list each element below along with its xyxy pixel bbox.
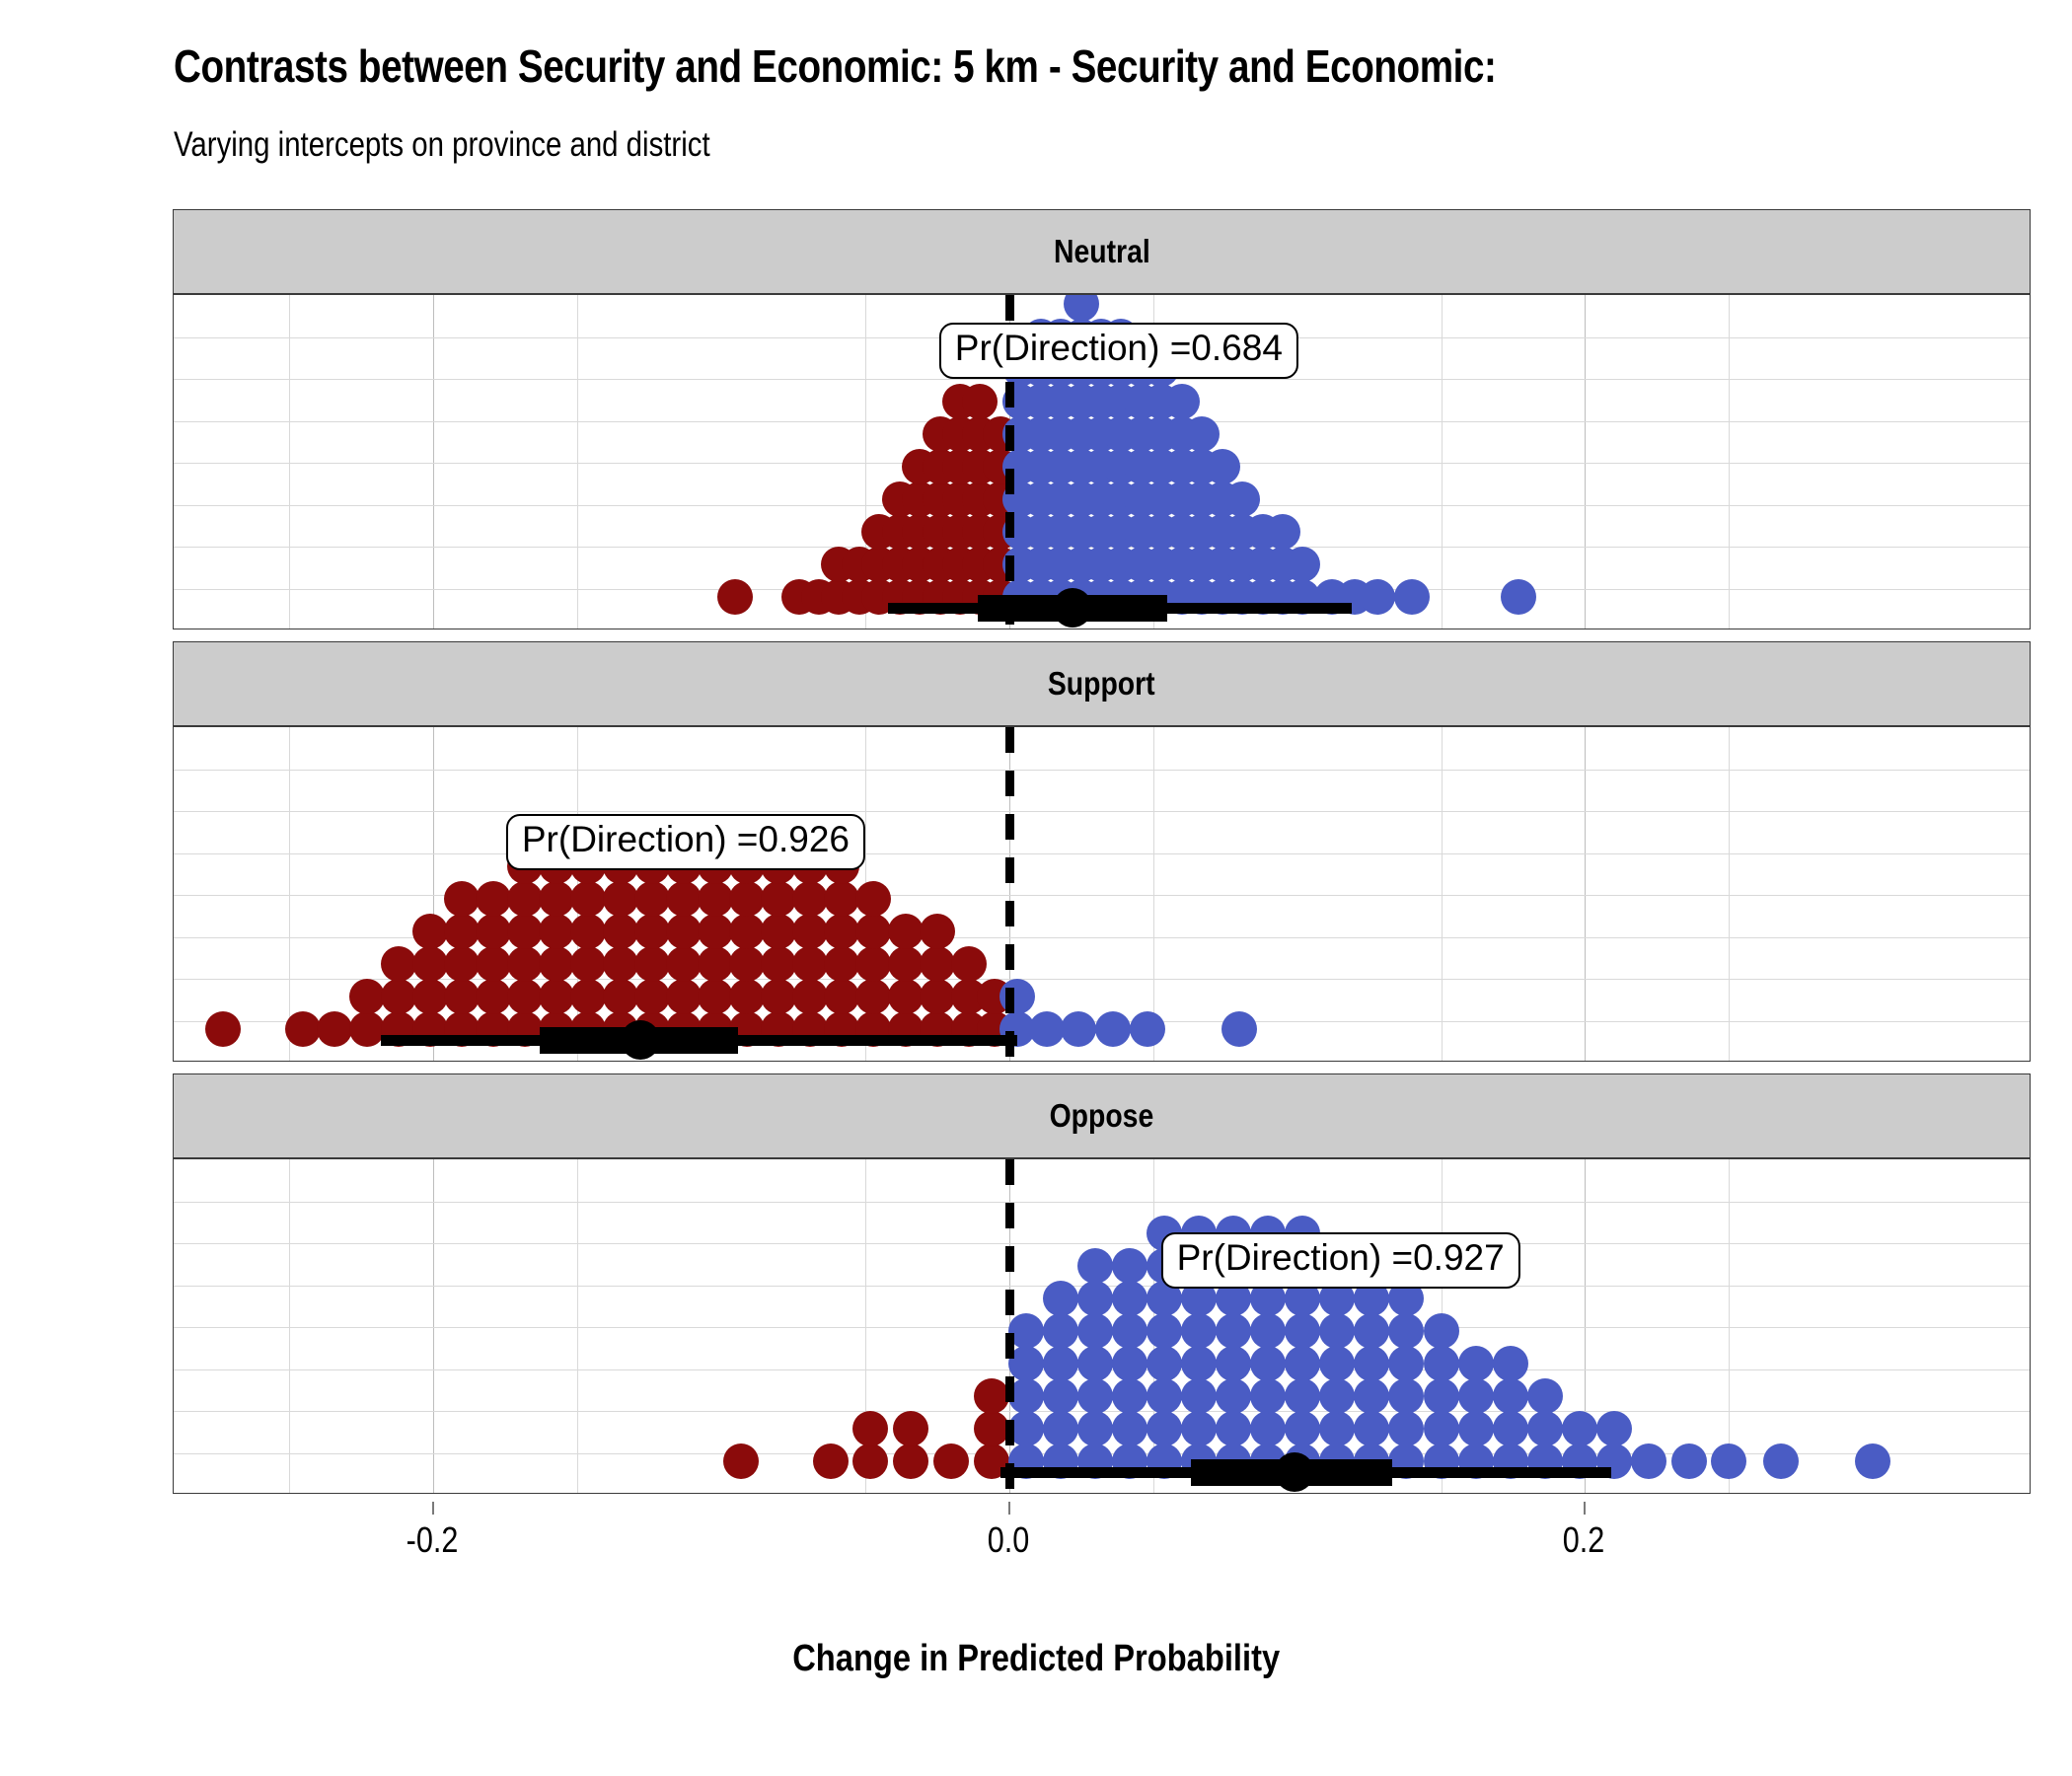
dot bbox=[1354, 1378, 1389, 1414]
dot bbox=[666, 881, 702, 917]
x-axis-tick bbox=[1584, 1502, 1586, 1515]
facet-strip-oppose: Oppose bbox=[173, 1073, 2031, 1158]
dot bbox=[666, 946, 702, 982]
dot bbox=[1181, 1313, 1217, 1349]
dot bbox=[1527, 1378, 1563, 1414]
panel-oppose: Pr(Direction) =0.927 bbox=[173, 1158, 2031, 1494]
dot bbox=[729, 881, 765, 917]
dot bbox=[666, 979, 702, 1014]
dot bbox=[1493, 1378, 1528, 1414]
dot bbox=[1458, 1411, 1494, 1446]
dot bbox=[824, 946, 859, 982]
dot bbox=[1095, 1011, 1131, 1047]
facet-strip-label: Neutral bbox=[1054, 233, 1150, 270]
dot bbox=[1596, 1411, 1632, 1446]
dot bbox=[761, 979, 796, 1014]
gridline-vertical-minor bbox=[1442, 295, 1443, 629]
dot bbox=[1501, 579, 1536, 615]
dot bbox=[476, 914, 511, 949]
gridline-vertical-minor bbox=[289, 1159, 290, 1493]
dot bbox=[570, 979, 606, 1014]
dot bbox=[1112, 1313, 1147, 1349]
dot bbox=[1112, 1281, 1147, 1316]
dot bbox=[824, 881, 859, 917]
dot bbox=[855, 946, 891, 982]
dot bbox=[381, 946, 416, 982]
dot bbox=[476, 946, 511, 982]
facet-neutral: NeutralPr(Direction) =0.684 bbox=[173, 209, 2033, 629]
dot bbox=[962, 384, 998, 419]
dot bbox=[1671, 1443, 1707, 1479]
panel-neutral: Pr(Direction) =0.684 bbox=[173, 294, 2031, 629]
dot bbox=[813, 1443, 849, 1479]
panel-support: Pr(Direction) =0.926 bbox=[173, 726, 2031, 1062]
dot bbox=[1319, 1411, 1355, 1446]
dot bbox=[951, 946, 987, 982]
chart-subtitle: Varying intercepts on province and distr… bbox=[174, 125, 710, 165]
dot bbox=[1855, 1443, 1890, 1479]
dot bbox=[1043, 1313, 1078, 1349]
point-estimate-marker bbox=[1275, 1452, 1314, 1492]
dot bbox=[855, 881, 891, 917]
dot bbox=[1250, 1411, 1286, 1446]
dot bbox=[476, 979, 511, 1014]
facet-strip-label: Support bbox=[1048, 665, 1155, 703]
dot bbox=[1112, 1346, 1147, 1381]
dot bbox=[824, 914, 859, 949]
dot bbox=[1184, 416, 1220, 452]
facet-oppose: OpposePr(Direction) =0.927 bbox=[173, 1073, 2033, 1494]
dot bbox=[570, 914, 606, 949]
gridline-vertical-minor bbox=[577, 295, 578, 629]
dot bbox=[1285, 1378, 1320, 1414]
dot bbox=[1216, 1346, 1251, 1381]
dot bbox=[1285, 1346, 1320, 1381]
dot bbox=[1493, 1411, 1528, 1446]
gridline-horizontal bbox=[174, 1202, 2030, 1203]
dot bbox=[1424, 1411, 1459, 1446]
dot bbox=[1354, 1346, 1389, 1381]
dot bbox=[507, 881, 543, 917]
dot bbox=[717, 579, 753, 615]
dot bbox=[634, 979, 670, 1014]
dot bbox=[317, 1011, 352, 1047]
dot bbox=[729, 979, 765, 1014]
dot bbox=[444, 979, 480, 1014]
gridline-vertical-major bbox=[433, 1159, 434, 1493]
dot bbox=[1205, 449, 1240, 484]
pr-direction-label: Pr(Direction) =0.927 bbox=[1161, 1232, 1520, 1289]
dot bbox=[1077, 1378, 1113, 1414]
gridline-vertical-minor bbox=[289, 295, 290, 629]
dot bbox=[729, 946, 765, 982]
dot bbox=[1077, 1281, 1113, 1316]
dot bbox=[920, 946, 955, 982]
dot bbox=[412, 979, 448, 1014]
dot bbox=[1216, 1313, 1251, 1349]
pr-direction-label: Pr(Direction) =0.926 bbox=[506, 814, 865, 870]
dot bbox=[1130, 1011, 1165, 1047]
gridline-vertical-minor bbox=[289, 727, 290, 1061]
dot bbox=[1388, 1346, 1424, 1381]
dot bbox=[1043, 1378, 1078, 1414]
dot bbox=[1147, 1411, 1182, 1446]
dot bbox=[1077, 1248, 1113, 1284]
dot bbox=[723, 1443, 759, 1479]
facet-strip-neutral: Neutral bbox=[173, 209, 2031, 294]
dot bbox=[893, 1443, 928, 1479]
dot bbox=[539, 946, 574, 982]
dot bbox=[1424, 1378, 1459, 1414]
gridline-horizontal bbox=[174, 853, 2030, 854]
x-axis-tick bbox=[432, 1502, 434, 1515]
dot bbox=[933, 1443, 969, 1479]
dot bbox=[603, 881, 638, 917]
point-estimate-marker bbox=[621, 1020, 660, 1060]
dot bbox=[539, 979, 574, 1014]
chart-title: Contrasts between Security and Economic:… bbox=[174, 39, 1798, 93]
dot bbox=[1458, 1378, 1494, 1414]
dot bbox=[1360, 579, 1395, 615]
x-axis-tick-label: 0.0 bbox=[987, 1519, 1029, 1561]
dot bbox=[698, 946, 733, 982]
dot bbox=[761, 914, 796, 949]
gridline-vertical-major bbox=[433, 295, 434, 629]
dot bbox=[603, 979, 638, 1014]
dot bbox=[1112, 1248, 1147, 1284]
dot bbox=[1319, 1346, 1355, 1381]
dot bbox=[1493, 1346, 1528, 1381]
dot bbox=[1221, 1011, 1257, 1047]
dot bbox=[1061, 1011, 1096, 1047]
dot bbox=[1216, 1411, 1251, 1446]
dot bbox=[855, 979, 891, 1014]
dot bbox=[1164, 384, 1200, 419]
dot bbox=[1043, 1346, 1078, 1381]
x-axis-title-text: Change in Predicted Probability bbox=[792, 1638, 1280, 1680]
dot bbox=[634, 914, 670, 949]
dot bbox=[1631, 1443, 1666, 1479]
dot bbox=[852, 1411, 888, 1446]
dot bbox=[381, 979, 416, 1014]
dot bbox=[507, 979, 543, 1014]
dot bbox=[444, 946, 480, 982]
dot bbox=[1394, 579, 1430, 615]
dot bbox=[1029, 1011, 1065, 1047]
dot bbox=[603, 914, 638, 949]
dot bbox=[1388, 1378, 1424, 1414]
gridline-horizontal bbox=[174, 1243, 2030, 1244]
dot bbox=[1147, 1313, 1182, 1349]
dot bbox=[1562, 1411, 1597, 1446]
dot bbox=[634, 881, 670, 917]
dot bbox=[888, 946, 924, 982]
dot bbox=[1250, 1346, 1286, 1381]
dot bbox=[539, 881, 574, 917]
dot bbox=[205, 1011, 241, 1047]
zero-reference-line bbox=[1005, 727, 1014, 1061]
dot bbox=[1763, 1443, 1799, 1479]
dot bbox=[1181, 1378, 1217, 1414]
dot bbox=[1250, 1378, 1286, 1414]
gridline-vertical-minor bbox=[1729, 295, 1730, 629]
dot bbox=[1388, 1313, 1424, 1349]
dot bbox=[1043, 1281, 1078, 1316]
dot bbox=[1147, 1378, 1182, 1414]
dot bbox=[888, 914, 924, 949]
dot bbox=[476, 881, 511, 917]
dot bbox=[1711, 1443, 1746, 1479]
gridline-vertical-major bbox=[1585, 727, 1586, 1061]
facet-strip-support: Support bbox=[173, 641, 2031, 726]
dot bbox=[1458, 1346, 1494, 1381]
gridline-vertical-minor bbox=[577, 1159, 578, 1493]
dot bbox=[792, 914, 828, 949]
dot bbox=[1077, 1313, 1113, 1349]
gridline-vertical-minor bbox=[1153, 727, 1154, 1061]
dot bbox=[792, 881, 828, 917]
dot bbox=[1285, 547, 1320, 582]
dot bbox=[285, 1011, 321, 1047]
dot bbox=[792, 979, 828, 1014]
dot bbox=[1319, 1313, 1355, 1349]
facet-support: SupportPr(Direction) =0.926 bbox=[173, 641, 2033, 1062]
dot bbox=[1043, 1411, 1078, 1446]
dot bbox=[1112, 1378, 1147, 1414]
dot bbox=[1064, 294, 1099, 322]
dot bbox=[920, 914, 955, 949]
dot bbox=[1319, 1378, 1355, 1414]
dot bbox=[761, 881, 796, 917]
dot bbox=[792, 946, 828, 982]
dot bbox=[570, 881, 606, 917]
dot bbox=[1424, 1313, 1459, 1349]
dot bbox=[444, 881, 480, 917]
chart-root: Contrasts between Security and Economic:… bbox=[0, 0, 2072, 1776]
gridline-vertical-minor bbox=[1729, 727, 1730, 1061]
zero-reference-line bbox=[1005, 1159, 1014, 1493]
dot bbox=[1147, 1346, 1182, 1381]
dot bbox=[761, 946, 796, 982]
dot bbox=[698, 979, 733, 1014]
dot bbox=[444, 914, 480, 949]
gridline-horizontal bbox=[174, 811, 2030, 812]
x-axis-tick-label: -0.2 bbox=[406, 1519, 458, 1561]
dot bbox=[1527, 1411, 1563, 1446]
dot bbox=[1224, 481, 1260, 517]
dot bbox=[824, 979, 859, 1014]
dot bbox=[507, 914, 543, 949]
dot bbox=[666, 914, 702, 949]
x-axis-tick bbox=[1008, 1502, 1010, 1515]
dot bbox=[852, 1443, 888, 1479]
dot bbox=[920, 979, 955, 1014]
dot bbox=[603, 946, 638, 982]
x-axis-tick-label: 0.2 bbox=[1563, 1519, 1605, 1561]
dot bbox=[507, 946, 543, 982]
dot bbox=[1181, 1346, 1217, 1381]
dot bbox=[1285, 1411, 1320, 1446]
dot bbox=[893, 1411, 928, 1446]
dot bbox=[1354, 1411, 1389, 1446]
dot bbox=[1354, 1313, 1389, 1349]
dot bbox=[1077, 1411, 1113, 1446]
dot bbox=[1388, 1411, 1424, 1446]
dot bbox=[570, 946, 606, 982]
dot bbox=[1285, 1313, 1320, 1349]
facet-panels: NeutralPr(Direction) =0.684SupportPr(Dir… bbox=[173, 209, 2033, 1502]
dot bbox=[1077, 1346, 1113, 1381]
dot bbox=[698, 881, 733, 917]
facet-strip-label: Oppose bbox=[1050, 1097, 1154, 1135]
pr-direction-label: Pr(Direction) =0.684 bbox=[939, 323, 1298, 379]
x-axis-title: Change in Predicted Probability bbox=[0, 1638, 2072, 1680]
dot bbox=[1424, 1346, 1459, 1381]
gridline-vertical-major bbox=[1585, 295, 1586, 629]
dot bbox=[698, 914, 733, 949]
dot bbox=[1265, 514, 1300, 550]
dot bbox=[888, 979, 924, 1014]
dot bbox=[634, 946, 670, 982]
dot bbox=[1250, 1313, 1286, 1349]
dot bbox=[412, 946, 448, 982]
dot bbox=[729, 914, 765, 949]
dot bbox=[349, 979, 385, 1014]
dot bbox=[349, 1011, 385, 1047]
dot bbox=[1181, 1411, 1217, 1446]
point-estimate-marker bbox=[1053, 588, 1092, 628]
dot bbox=[855, 914, 891, 949]
x-axis: -0.20.00.2 bbox=[173, 1502, 2033, 1620]
dot bbox=[412, 914, 448, 949]
dot bbox=[1216, 1378, 1251, 1414]
gridline-vertical-minor bbox=[1442, 727, 1443, 1061]
gridline-horizontal bbox=[174, 770, 2030, 771]
dot bbox=[539, 914, 574, 949]
dot bbox=[1112, 1411, 1147, 1446]
